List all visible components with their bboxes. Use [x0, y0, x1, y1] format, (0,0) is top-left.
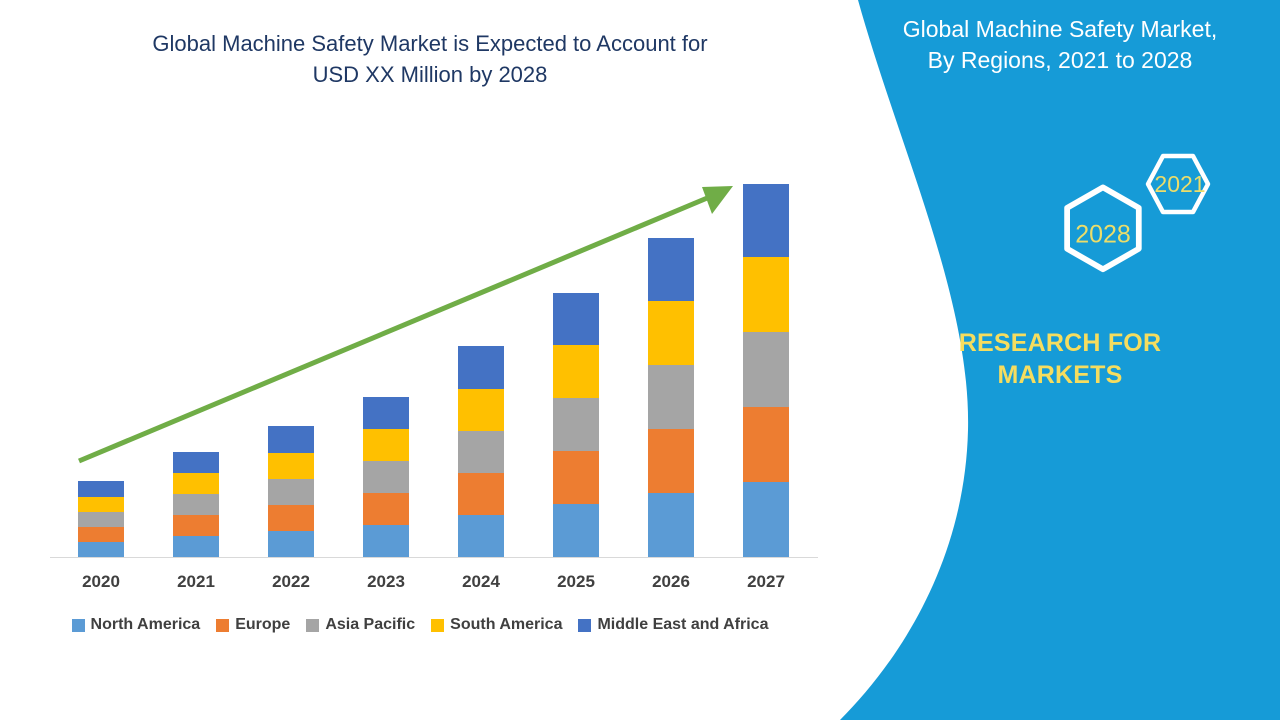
bar-column-2020 — [78, 481, 124, 557]
legend-item[interactable]: South America — [431, 616, 562, 634]
legend-label: North America — [91, 616, 201, 634]
bar-segment — [553, 504, 599, 557]
bar-segment — [553, 345, 599, 398]
bar-segment — [78, 542, 124, 557]
legend-swatch-icon — [306, 619, 319, 632]
x-axis-labels: 20202021202220232024202520262027 — [0, 572, 840, 602]
plot-region: 20202021202220232024202520262027 — [0, 0, 840, 600]
x-axis-label-2025: 2025 — [536, 572, 616, 592]
hexagon-2021: 2021 — [1148, 156, 1208, 212]
bar-segment — [648, 365, 694, 429]
bar-segment — [78, 527, 124, 542]
bar-segment — [458, 473, 504, 515]
bar-segment — [743, 257, 789, 332]
x-axis-label-2027: 2027 — [726, 572, 806, 592]
hexagon-badges: 2028 2021 — [1030, 140, 1260, 300]
legend-label: Middle East and Africa — [597, 616, 768, 634]
bar-segment — [173, 515, 219, 536]
bar-segment — [743, 332, 789, 407]
stacked-bars — [0, 0, 840, 600]
bar-segment — [743, 184, 789, 257]
x-axis-line — [50, 557, 818, 558]
x-axis-label-2024: 2024 — [441, 572, 521, 592]
bar-segment — [268, 453, 314, 479]
panel-title-line-1: Global Machine Safety Market, — [860, 14, 1260, 45]
bar-segment — [458, 431, 504, 473]
bar-segment — [363, 461, 409, 493]
bar-segment — [458, 389, 504, 431]
x-axis-label-2022: 2022 — [251, 572, 331, 592]
legend-item[interactable]: North America — [72, 616, 201, 634]
bar-segment — [173, 452, 219, 473]
legend-item[interactable]: Europe — [216, 616, 290, 634]
bar-column-2025 — [553, 293, 599, 557]
brand-line-2: MARKETS — [860, 359, 1260, 391]
legend-swatch-icon — [431, 619, 444, 632]
chart-legend: North AmericaEuropeAsia PacificSouth Ame… — [0, 616, 840, 634]
bar-segment — [78, 512, 124, 527]
legend-swatch-icon — [216, 619, 229, 632]
legend-item[interactable]: Middle East and Africa — [578, 616, 768, 634]
bar-segment — [268, 479, 314, 505]
bar-segment — [363, 525, 409, 557]
hexagon-2021-label: 2021 — [1154, 171, 1205, 197]
bar-segment — [363, 429, 409, 461]
bar-segment — [268, 531, 314, 557]
x-axis-label-2021: 2021 — [156, 572, 236, 592]
bar-segment — [553, 398, 599, 451]
x-axis-label-2023: 2023 — [346, 572, 426, 592]
bar-segment — [173, 536, 219, 557]
bar-column-2022 — [268, 426, 314, 557]
bar-segment — [553, 293, 599, 345]
bar-segment — [648, 238, 694, 301]
legend-label: South America — [450, 616, 562, 634]
bar-segment — [648, 429, 694, 493]
bar-column-2023 — [363, 397, 409, 557]
bar-segment — [173, 494, 219, 515]
bar-segment — [743, 482, 789, 557]
bar-segment — [173, 473, 219, 494]
x-axis-label-2026: 2026 — [631, 572, 711, 592]
bar-column-2027 — [743, 184, 789, 557]
bar-segment — [648, 301, 694, 365]
bar-segment — [363, 397, 409, 429]
panel-title: Global Machine Safety Market, By Regions… — [860, 14, 1260, 76]
bar-segment — [363, 493, 409, 525]
legend-label: Europe — [235, 616, 290, 634]
bar-segment — [648, 493, 694, 557]
panel-content: Global Machine Safety Market, By Regions… — [860, 0, 1280, 720]
brand-wordmark: RESEARCH FOR MARKETS — [860, 327, 1260, 391]
bar-segment — [268, 426, 314, 453]
bar-segment — [553, 451, 599, 504]
hexagon-2028-label: 2028 — [1075, 221, 1131, 249]
bar-segment — [268, 505, 314, 531]
bar-segment — [458, 346, 504, 389]
bar-segment — [78, 481, 124, 497]
bar-segment — [458, 515, 504, 557]
bar-column-2026 — [648, 238, 694, 557]
bar-column-2024 — [458, 346, 504, 557]
hexagon-2028: 2028 — [1067, 187, 1139, 269]
bar-segment — [743, 407, 789, 482]
legend-swatch-icon — [578, 619, 591, 632]
brand-line-1: RESEARCH FOR — [860, 327, 1260, 359]
legend-item[interactable]: Asia Pacific — [306, 616, 415, 634]
legend-swatch-icon — [72, 619, 85, 632]
panel-title-line-2: By Regions, 2021 to 2028 — [860, 45, 1260, 76]
bar-column-2021 — [173, 452, 219, 557]
chart-area: Global Machine Safety Market is Expected… — [0, 0, 840, 720]
bar-segment — [78, 497, 124, 512]
legend-label: Asia Pacific — [325, 616, 415, 634]
x-axis-label-2020: 2020 — [61, 572, 141, 592]
